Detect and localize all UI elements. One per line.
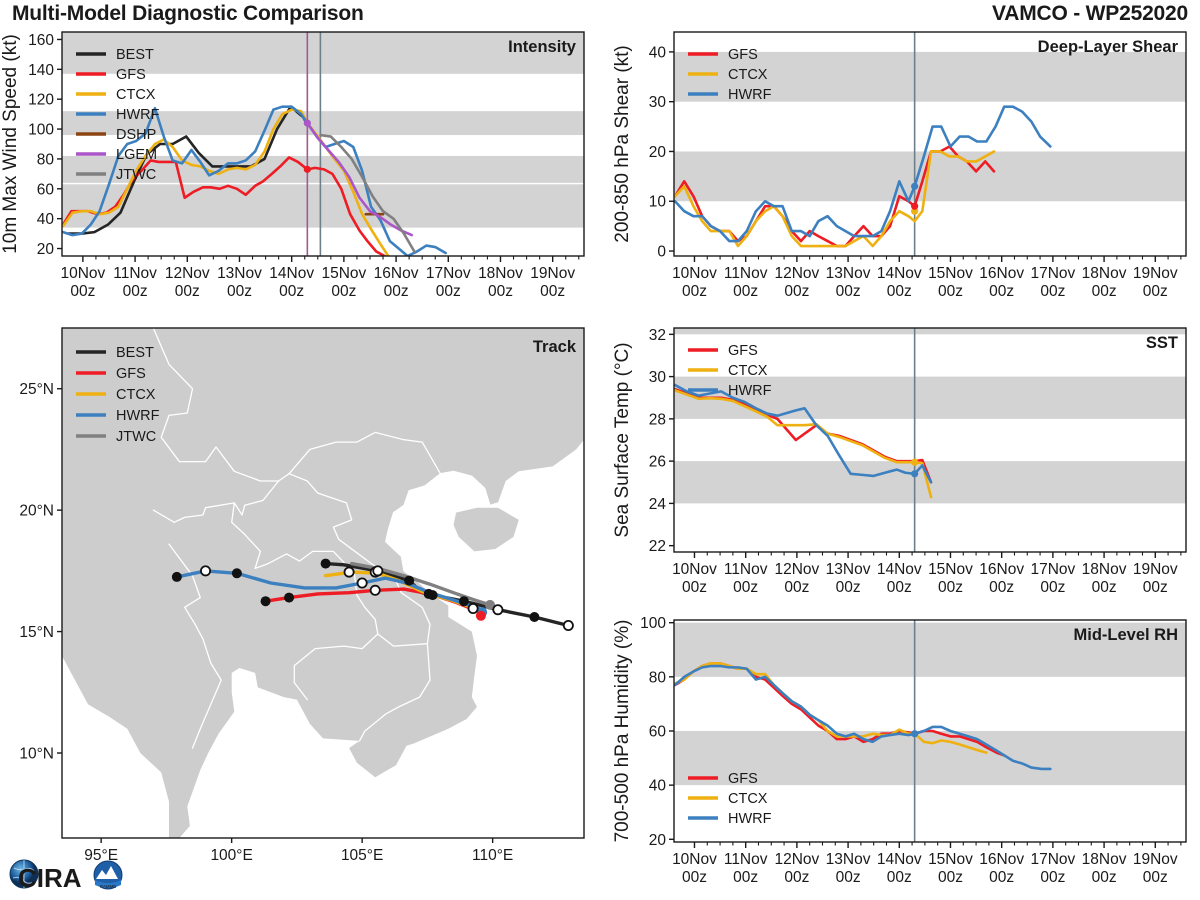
xtick-sublabel-8: 00z — [1092, 283, 1117, 300]
xtick-label-6: 16Nov — [979, 265, 1024, 282]
map-ytick-label-0: 10°N — [19, 746, 54, 763]
ytick-label-1: 24 — [649, 496, 667, 513]
xtick-sublabel-0: 00z — [682, 283, 707, 300]
xtick-sublabel-4: 00z — [887, 869, 912, 886]
intensity-chart: 2040608010012014016010Nov00z11Nov00z12No… — [0, 22, 596, 318]
xtick-sublabel-6: 00z — [989, 579, 1014, 596]
plot-background — [674, 328, 1186, 552]
xtick-sublabel-5: 00z — [938, 869, 963, 886]
track-legend-label-gfs: GFS — [116, 366, 146, 382]
marker-ctcx — [911, 459, 918, 466]
marker-hwrf — [911, 470, 918, 477]
xtick-label-4: 14Nov — [877, 265, 922, 282]
svg-text:CIRA: CIRA — [18, 863, 82, 893]
legend-label-gfs: GFS — [728, 771, 758, 787]
xtick-sublabel-8: 00z — [1092, 579, 1117, 596]
legend-label-ctcx: CTCX — [728, 363, 768, 379]
ytick-label-4: 100 — [640, 615, 666, 632]
xtick-label-9: 19Nov — [1133, 265, 1178, 282]
panel-rh: 2040608010010Nov00z11Nov00z12Nov00z13Nov… — [596, 610, 1200, 900]
xtick-sublabel-9: 00z — [540, 283, 565, 300]
track-marker-open-5 — [201, 566, 210, 575]
xtick-label-3: 13Nov — [826, 265, 871, 282]
ytick-label-7: 160 — [28, 32, 54, 49]
rh-panel-title: Mid-Level RH — [1073, 626, 1178, 644]
panel-track: 10°N15°N20°N25°N95°E100°E105°E110°ETrack… — [0, 318, 596, 878]
xtick-sublabel-7: 00z — [1040, 283, 1065, 300]
xtick-label-6: 16Nov — [979, 851, 1024, 868]
xtick-label-0: 10Nov — [672, 561, 717, 578]
map-ytick-label-3: 25°N — [19, 381, 54, 398]
xtick-sublabel-0: 00z — [682, 869, 707, 886]
legend-label-hwrf: HWRF — [728, 383, 772, 399]
xtick-sublabel-9: 00z — [1143, 579, 1168, 596]
track-marker-filled-5 — [459, 596, 469, 606]
sst-ylabel: Sea Surface Temp (°C) — [612, 342, 633, 537]
xtick-label-1: 11Nov — [724, 851, 768, 868]
xtick-label-6: 16Nov — [979, 561, 1024, 578]
xtick-sublabel-6: 00z — [989, 869, 1014, 886]
ytick-label-5: 32 — [649, 327, 666, 344]
rh-ylabel: 700-500 hPa Humidity (%) — [612, 620, 633, 843]
intensity-panel-title: Intensity — [508, 38, 577, 56]
xtick-label-8: 18Nov — [1082, 265, 1127, 282]
xtick-sublabel-7: 00z — [1040, 579, 1065, 596]
shear-ylabel: 200-850 hPa Shear (kt) — [612, 45, 633, 243]
xtick-sublabel-1: 00z — [123, 283, 148, 300]
shear-chart: 01020304010Nov00z11Nov00z12Nov00z13Nov00… — [596, 22, 1200, 318]
track-legend-label-jtwc: JTWC — [116, 429, 156, 445]
track-marker-filled-8 — [404, 576, 414, 586]
legend-label-hwrf: HWRF — [728, 87, 772, 103]
track-panel-title: Track — [533, 338, 577, 356]
xtick-sublabel-3: 00z — [836, 579, 861, 596]
xtick-label-4: 14Nov — [269, 265, 314, 282]
panel-shear: 01020304010Nov00z11Nov00z12Nov00z13Nov00… — [596, 22, 1200, 318]
legend-label-hwrf: HWRF — [728, 811, 772, 827]
xtick-label-7: 17Nov — [1030, 851, 1075, 868]
xtick-sublabel-1: 00z — [733, 579, 758, 596]
xtick-sublabel-2: 00z — [784, 579, 809, 596]
marker-gfs — [911, 203, 918, 210]
xtick-sublabel-2: 00z — [175, 283, 200, 300]
ytick-label-0: 20 — [649, 832, 667, 849]
marker-hwrf — [911, 183, 918, 190]
xtick-sublabel-9: 00z — [1143, 283, 1168, 300]
track-marker-filled-9 — [321, 559, 331, 569]
legend-label-jtwc: JTWC — [116, 167, 156, 183]
xtick-sublabel-1: 00z — [733, 283, 758, 300]
cira-rammb-logo: CIRA RAMMB — [4, 848, 130, 898]
marker-gfs — [304, 166, 311, 173]
track-marker-filled-4 — [529, 612, 539, 622]
xtick-label-2: 12Nov — [774, 265, 819, 282]
ytick-label-2: 60 — [649, 724, 667, 741]
ytick-label-1: 40 — [649, 778, 667, 795]
track-marker-filled-3 — [232, 568, 242, 578]
ytick-label-1: 10 — [649, 194, 667, 211]
ytick-label-4: 30 — [649, 369, 667, 386]
ytick-label-5: 120 — [28, 92, 54, 109]
track-marker-open-1 — [371, 586, 380, 595]
xtick-sublabel-3: 00z — [836, 283, 861, 300]
xtick-sublabel-0: 00z — [70, 283, 95, 300]
xtick-sublabel-3: 00z — [836, 869, 861, 886]
xtick-label-3: 13Nov — [826, 561, 871, 578]
sst-chart: 22242628303210Nov00z11Nov00z12Nov00z13No… — [596, 318, 1200, 610]
xtick-label-7: 17Nov — [426, 265, 471, 282]
shear-panel-title: Deep-Layer Shear — [1038, 38, 1179, 56]
map-ytick-label-1: 15°N — [19, 624, 54, 641]
track-marker-open-8 — [373, 566, 382, 575]
xtick-sublabel-8: 00z — [488, 283, 513, 300]
legend-label-gfs: GFS — [728, 343, 758, 359]
rh-chart: 2040608010010Nov00z11Nov00z12Nov00z13Nov… — [596, 610, 1200, 900]
xtick-sublabel-3: 00z — [227, 283, 252, 300]
xtick-sublabel-9: 00z — [1143, 869, 1168, 886]
xtick-sublabel-1: 00z — [733, 869, 758, 886]
ytick-label-2: 26 — [649, 454, 666, 471]
xtick-sublabel-6: 00z — [989, 283, 1014, 300]
xtick-sublabel-2: 00z — [784, 869, 809, 886]
xtick-label-2: 12Nov — [774, 851, 819, 868]
track-legend-label-ctcx: CTCX — [116, 387, 156, 403]
xtick-label-5: 15Nov — [321, 265, 366, 282]
track-marker-open-0 — [468, 604, 477, 613]
track-marker-open-6 — [564, 621, 573, 630]
xtick-label-0: 10Nov — [672, 265, 717, 282]
track-map: 10°N15°N20°N25°N95°E100°E105°E110°ETrack… — [0, 318, 596, 878]
ytick-label-3: 30 — [649, 94, 667, 111]
track-legend-label-best: BEST — [116, 345, 154, 361]
xtick-label-8: 18Nov — [1082, 851, 1127, 868]
xtick-sublabel-4: 00z — [887, 579, 912, 596]
marker-lgem — [304, 119, 311, 126]
legend-label-ctcx: CTCX — [116, 87, 156, 103]
xtick-label-9: 19Nov — [530, 265, 575, 282]
xtick-label-1: 11Nov — [724, 265, 768, 282]
ytick-label-4: 40 — [649, 44, 667, 61]
track-marker-filled-7 — [424, 589, 434, 599]
xtick-label-0: 10Nov — [672, 851, 717, 868]
ytick-label-4: 100 — [28, 122, 54, 139]
legend-label-dshp: DSHP — [116, 127, 156, 143]
xtick-label-3: 13Nov — [826, 851, 871, 868]
xtick-sublabel-4: 00z — [279, 283, 304, 300]
xtick-sublabel-4: 00z — [887, 283, 912, 300]
xtick-label-5: 15Nov — [928, 265, 973, 282]
xtick-label-4: 14Nov — [877, 561, 922, 578]
legend-label-gfs: GFS — [116, 67, 146, 83]
xtick-label-9: 19Nov — [1133, 561, 1178, 578]
track-marker-filled-1 — [284, 593, 294, 603]
xtick-label-6: 16Nov — [374, 265, 419, 282]
track-endpoint-marker-1 — [476, 611, 486, 621]
ytick-label-0: 20 — [37, 241, 55, 258]
xtick-label-2: 12Nov — [774, 561, 819, 578]
ytick-label-3: 80 — [649, 669, 667, 686]
legend-label-lgem: LGEM — [116, 147, 157, 163]
ytick-label-1: 40 — [37, 211, 55, 228]
map-xtick-label-1: 100°E — [210, 847, 252, 864]
xtick-label-9: 19Nov — [1133, 851, 1178, 868]
intensity-band-0 — [62, 184, 584, 227]
ytick-label-0: 0 — [657, 244, 666, 261]
map-xtick-label-3: 110°E — [472, 847, 513, 864]
xtick-label-5: 15Nov — [928, 851, 973, 868]
xtick-label-8: 18Nov — [1082, 561, 1127, 578]
ytick-label-2: 60 — [37, 181, 55, 198]
ytick-label-2: 20 — [649, 144, 667, 161]
intensity-ylabel: 10m Max Wind Speed (kt) — [0, 34, 21, 254]
xtick-sublabel-8: 00z — [1092, 869, 1117, 886]
xtick-label-2: 12Nov — [165, 265, 210, 282]
xtick-sublabel-7: 00z — [1040, 869, 1065, 886]
xtick-label-1: 11Nov — [113, 265, 157, 282]
ytick-label-3: 80 — [37, 151, 55, 168]
xtick-sublabel-5: 00z — [331, 283, 356, 300]
track-marker-filled-2 — [172, 572, 182, 582]
legend-label-hwrf: HWRF — [116, 107, 160, 123]
xtick-label-5: 15Nov — [928, 561, 973, 578]
svg-text:RAMMB: RAMMB — [100, 884, 116, 889]
ytick-label-3: 28 — [649, 411, 666, 428]
ytick-label-6: 140 — [28, 62, 54, 79]
panel-intensity: 2040608010012014016010Nov00z11Nov00z12No… — [0, 22, 596, 318]
track-legend-label-hwrf: HWRF — [116, 408, 160, 424]
xtick-sublabel-0: 00z — [682, 579, 707, 596]
xtick-label-7: 17Nov — [1030, 561, 1075, 578]
legend-label-best: BEST — [116, 47, 154, 63]
xtick-label-4: 14Nov — [877, 851, 922, 868]
xtick-sublabel-5: 00z — [938, 579, 963, 596]
ytick-label-0: 22 — [649, 538, 666, 555]
xtick-label-0: 10Nov — [60, 265, 105, 282]
track-marker-filled-0 — [261, 596, 271, 606]
panel-sst: 22242628303210Nov00z11Nov00z12Nov00z13No… — [596, 318, 1200, 610]
intensity-band-2 — [674, 328, 1186, 334]
xtick-label-7: 17Nov — [1030, 265, 1075, 282]
track-marker-open-7 — [493, 605, 502, 614]
legend-label-gfs: GFS — [728, 47, 758, 63]
xtick-sublabel-7: 00z — [436, 283, 461, 300]
marker-hwrf — [911, 730, 918, 737]
track-marker-open-3 — [358, 578, 367, 587]
map-xtick-label-2: 105°E — [341, 847, 383, 864]
xtick-label-3: 13Nov — [217, 265, 262, 282]
xtick-sublabel-5: 00z — [938, 283, 963, 300]
track-marker-open-2 — [345, 567, 354, 576]
map-ytick-label-2: 20°N — [19, 503, 54, 520]
sst-panel-title: SST — [1146, 334, 1178, 352]
xtick-label-8: 18Nov — [478, 265, 523, 282]
xtick-sublabel-6: 00z — [384, 283, 409, 300]
xtick-sublabel-2: 00z — [784, 283, 809, 300]
legend-label-ctcx: CTCX — [728, 791, 768, 807]
legend-label-ctcx: CTCX — [728, 67, 768, 83]
xtick-label-1: 11Nov — [724, 561, 768, 578]
